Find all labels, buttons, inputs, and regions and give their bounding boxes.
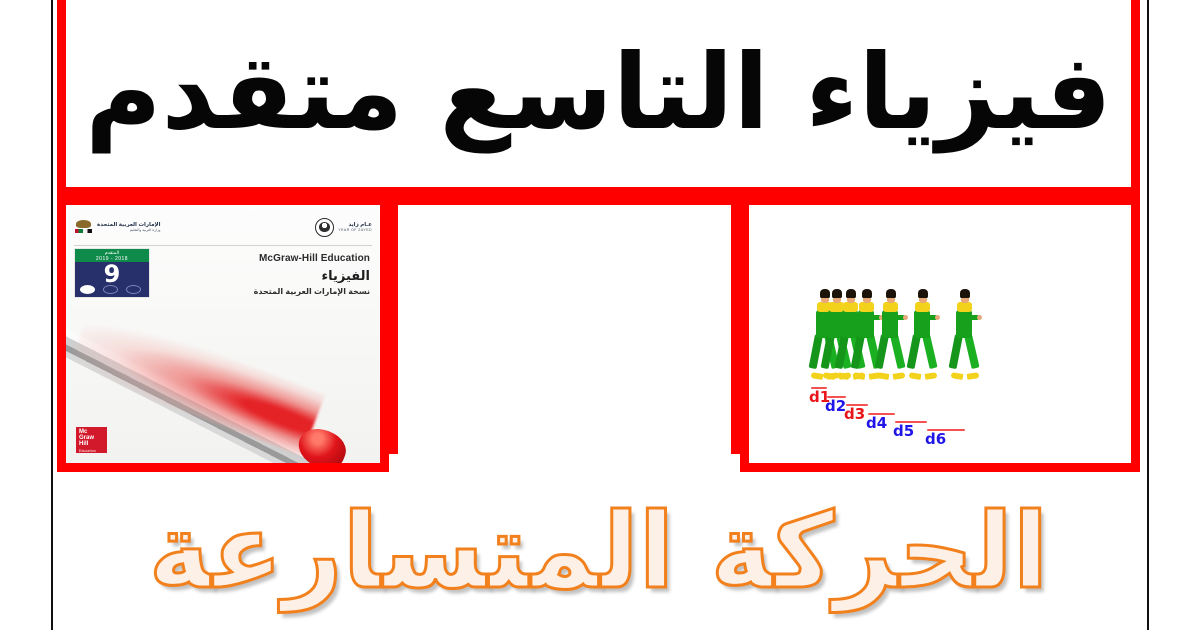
diagram-panel: d1d2d3d4d5d6 — [740, 196, 1140, 472]
lesson-title: الحركة المتسارعة — [149, 494, 1049, 608]
walking-figures-group — [811, 283, 1001, 379]
physics-textbook-cover: الإمارات العربية المتحدة وزارة التربية و… — [66, 205, 380, 463]
walking-figure — [951, 289, 977, 379]
book-edition: نسخة الإمارات العربية المتحدة — [254, 287, 370, 297]
mcgraw-hill-imprint-logo: Mc Graw Hill Education — [76, 427, 107, 453]
cover-artwork-match: Mc Graw Hill Education — [66, 297, 380, 463]
book-cover-panel: الإمارات العربية المتحدة وزارة التربية و… — [57, 196, 389, 472]
distance-labels-group: d1d2d3d4d5d6 — [809, 387, 1039, 443]
cover-logo-row: الإمارات العربية المتحدة وزارة التربية و… — [74, 212, 372, 242]
ministry-logo: الإمارات العربية المتحدة وزارة التربية و… — [74, 219, 160, 235]
grade-dot-1 — [80, 285, 95, 294]
distance-label-text: d6 — [925, 432, 946, 447]
publisher-name: McGraw-Hill Education — [254, 253, 370, 266]
cover-divider — [74, 245, 372, 246]
empty-middle-panel — [389, 196, 740, 454]
zayed-line2: YEAR OF ZAYED — [338, 228, 372, 232]
accelerated-motion-diagram: d1d2d3d4d5d6 — [749, 205, 1131, 463]
zayed-portrait-icon — [315, 218, 334, 237]
grade-badge: المتقدم 2018 - 2019 9 — [75, 249, 149, 297]
distance-label-text: d2 — [825, 399, 846, 414]
grade-dot-3 — [126, 285, 141, 294]
ministry-name-line2: وزارة التربية والتعليم — [97, 228, 160, 232]
walking-figure — [877, 289, 903, 379]
page-edge-left-rule — [51, 0, 53, 630]
bottom-title-box: الحركة المتسارعة — [57, 472, 1140, 630]
distance-label-text: d3 — [844, 407, 865, 422]
year-of-zayed-logo: عـام زايد YEAR OF ZAYED — [315, 218, 372, 237]
walking-figure — [909, 289, 935, 379]
grade-number: 9 — [75, 261, 149, 287]
page-edge-right-rule — [1147, 0, 1149, 630]
grade-track-label: المتقدم — [75, 249, 149, 256]
grade-dot-2 — [103, 285, 118, 294]
imprint-line4: Education — [79, 448, 104, 454]
cover-title-block: McGraw-Hill Education الفيزياء نسخة الإم… — [254, 253, 370, 297]
distance-label-text: d4 — [866, 416, 887, 431]
uae-emblem-icon — [74, 219, 93, 235]
book-subject: الفيزياء — [254, 269, 370, 285]
distance-label-text: d5 — [893, 424, 914, 439]
